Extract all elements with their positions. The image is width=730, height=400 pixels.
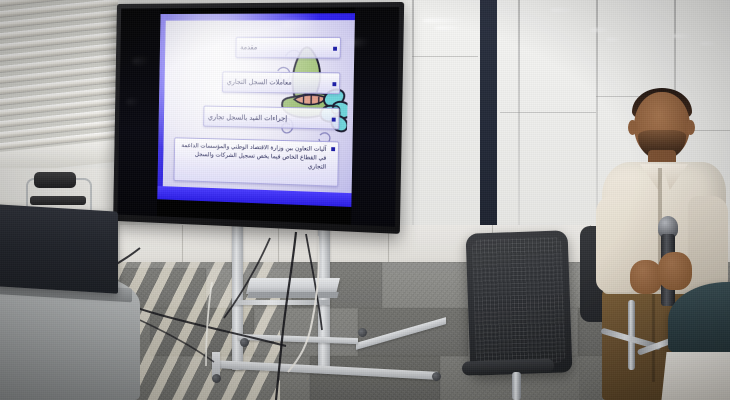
office-chair-base-post: [512, 372, 521, 400]
open-laptop: [0, 204, 118, 293]
folding-chair-seat: [30, 196, 86, 205]
slide-item-3-text: إجراءات القيد بالسجل تجاري: [208, 112, 287, 122]
ear-left: [628, 120, 637, 135]
slide-item-1-text: مقدمة: [240, 43, 257, 52]
stand-caster-wheel: [432, 372, 441, 381]
slide-item-4: آليات التعاون بين وزارة الاقتصاد الوطني …: [174, 137, 340, 186]
slide-bottom-accent-band: [157, 186, 351, 207]
pillarbox-left: [118, 8, 161, 216]
slide-item-2: معاملات السجل التجاري: [222, 71, 340, 94]
slide-bullet-marker: [333, 47, 337, 51]
meeting-room-photo: مقدمة معاملات السجل التجاري إجراءات القي…: [0, 0, 730, 400]
arm-right: [688, 196, 728, 292]
slide-bullet-marker: [332, 82, 336, 86]
flat-screen-tv: مقدمة معاملات السجل التجاري إجراءات القي…: [113, 2, 404, 234]
slide-bullet-marker: [331, 147, 335, 151]
slide-top-accent-band: [160, 13, 355, 20]
folding-chair-backrest: [34, 172, 76, 188]
stand-caster-wheel: [358, 328, 367, 337]
stand-shelf-edge: [247, 292, 338, 298]
dark-wall-strip: [480, 0, 497, 250]
mesh-office-chair: [466, 230, 573, 375]
stand-caster-wheel: [212, 374, 221, 383]
pillarbox-right: [351, 7, 399, 227]
chair-mesh-backrest: [472, 236, 566, 365]
ear-right: [686, 120, 695, 135]
hand-right: [658, 252, 692, 290]
slide-item-4-text: آليات التعاون بين وزارة الاقتصاد الوطني …: [178, 142, 326, 172]
presentation-slide: مقدمة معاملات السجل التجاري إجراءات القي…: [157, 13, 355, 207]
slide-item-2-text: معاملات السجل التجاري: [227, 78, 292, 87]
table-cloth: [661, 352, 730, 400]
slide-item-3: إجراءات القيد بالسجل تجاري: [203, 106, 339, 130]
stand-crossbar: [232, 300, 330, 305]
slide-item-1: مقدمة: [235, 37, 341, 59]
stand-caster-wheel: [240, 338, 249, 347]
tv-panel: مقدمة معاملات السجل التجاري إجراءات القي…: [118, 7, 400, 227]
slide-bullet-marker: [332, 118, 336, 122]
stand-left-column: [232, 224, 243, 370]
